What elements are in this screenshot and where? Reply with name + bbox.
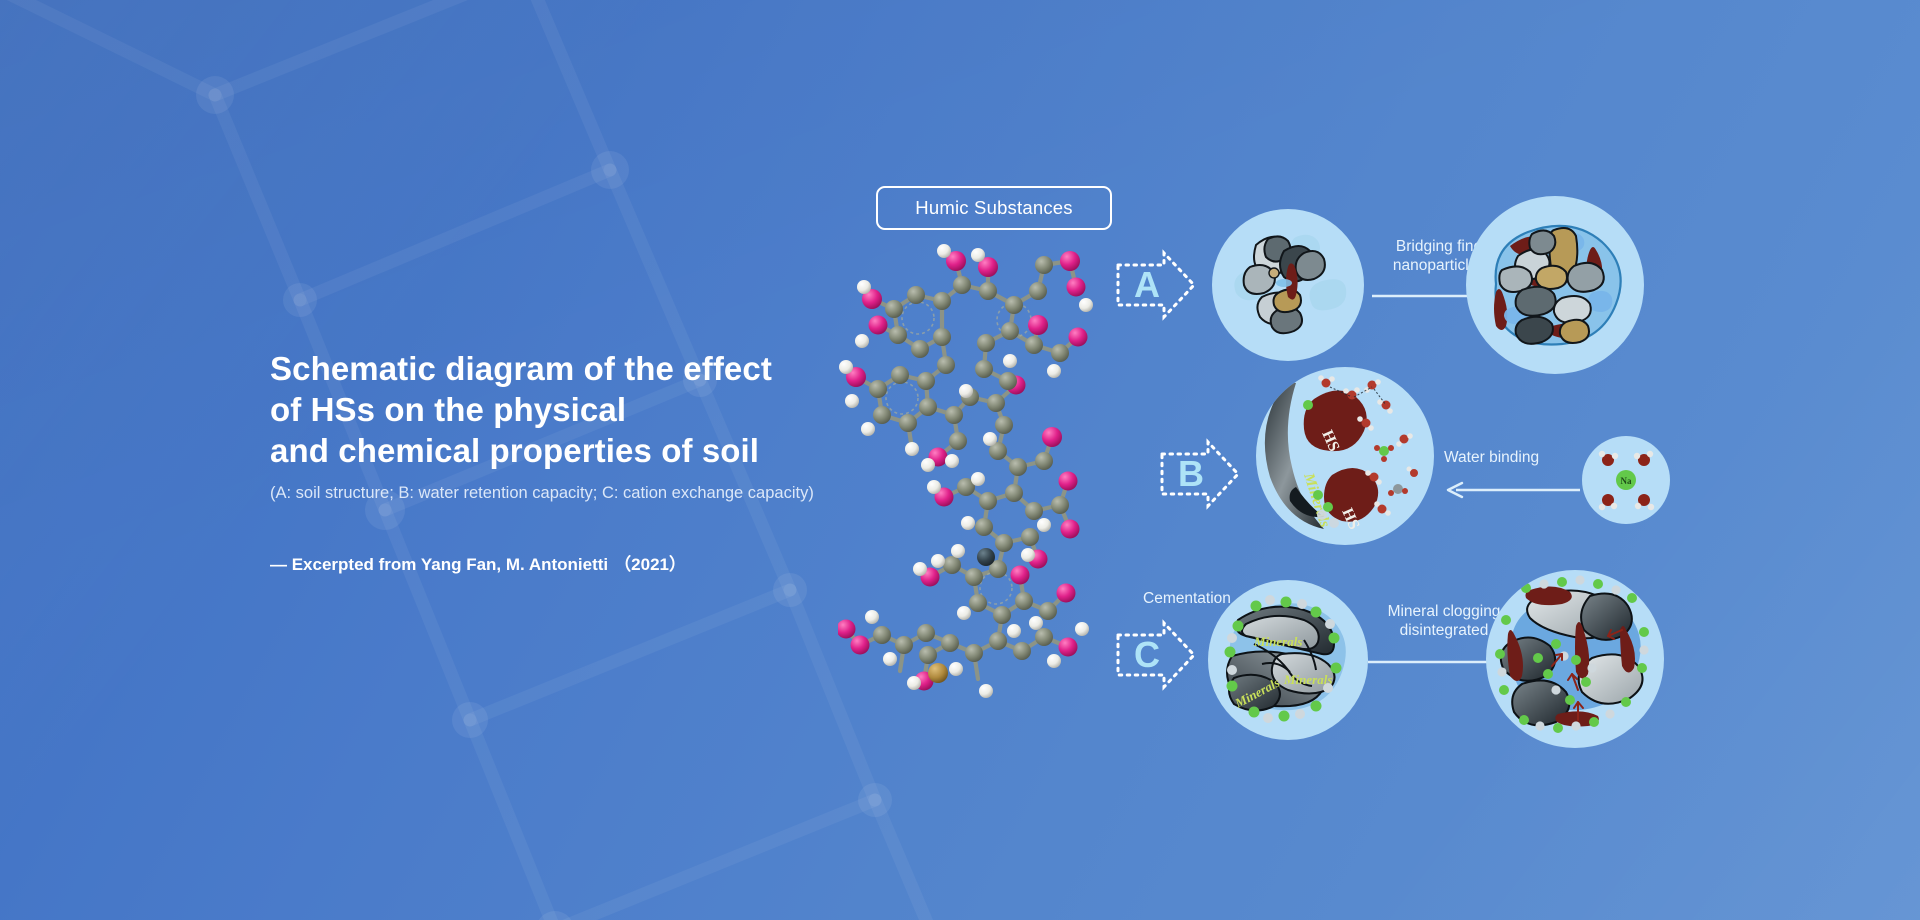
page-title-line-1: Schematic diagram of the effect [270,348,910,389]
aggregated-soil-structure-art [1466,196,1644,374]
arrow-badge-a: A [1114,249,1198,321]
subtitle-legend: (A: soil structure; B: water retention c… [270,482,910,504]
arrow-letter-c: C [1134,637,1160,673]
circle-cemented-mineral-clog: Minerals Minerals Minerals [1208,580,1368,740]
flow-arrow-b-left [1444,480,1580,500]
label-cementation: Cementation [1143,589,1231,608]
attribution: — Excerpted from Yang Fan, M. Antonietti… [270,550,910,575]
page-title-line-3: and chemical properties of soil [270,430,910,471]
hydrated-cation-art: Na [1582,436,1670,524]
cation-label: Na [1621,476,1632,486]
attribution-text: — Excerpted from Yang Fan, M. Antonietti [270,555,608,574]
circle-hs-mineral-water-retention: Minerals HS HS [1256,367,1434,545]
cemented-mineral-clog-art: Minerals Minerals Minerals [1208,580,1368,740]
loose-soil-particles-art [1212,209,1364,361]
arrow-badge-c: C [1114,619,1198,691]
arrow-letter-b: B [1178,456,1204,492]
circle-loose-soil-particles [1212,209,1364,361]
humic-substances-label: Humic Substances [915,197,1072,219]
circle-disintegrated-cation-exchange [1486,570,1664,748]
page-title-line-2: of HSs on the physical [270,389,910,430]
hs-mineral-water-art: Minerals HS HS [1256,367,1434,545]
arrow-letter-a: A [1134,267,1160,303]
humic-substances-badge: Humic Substances [876,186,1112,230]
disintegrated-cation-exchange-art [1486,570,1664,748]
flow-label-water-binding: Water binding [1444,448,1539,467]
minerals-label-c-1: Minerals [1253,634,1302,649]
title-block: Schematic diagram of the effect of HSs o… [270,348,910,575]
poster-canvas: Schematic diagram of the effect of HSs o… [0,0,1920,920]
attribution-year: （2021） [614,555,686,574]
circle-aggregated-soil-structure [1466,196,1644,374]
circle-hydrated-cation: Na [1582,436,1670,524]
arrow-badge-b: B [1158,438,1242,510]
